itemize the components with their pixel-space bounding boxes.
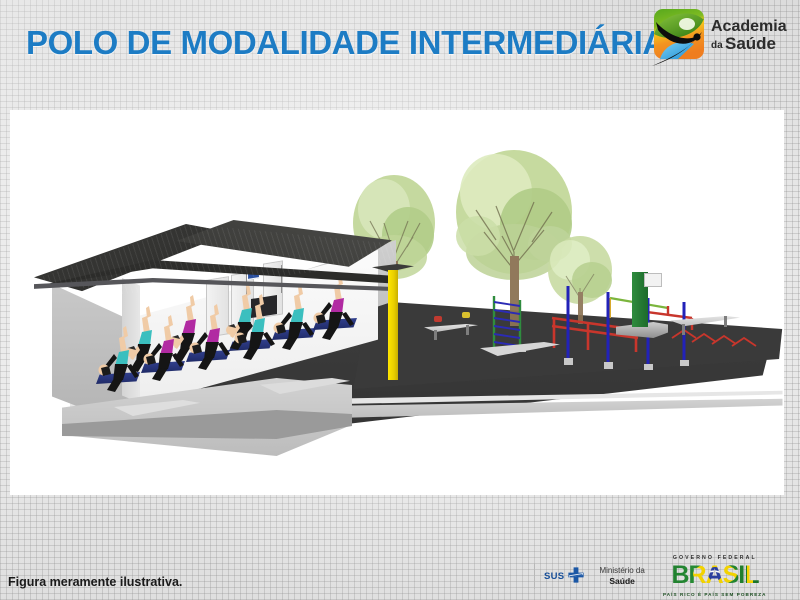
yellow-column [388,270,398,380]
participant [138,311,188,383]
svg-text:da: da [711,40,723,51]
logo-line1: Academia [711,18,787,35]
ministry-wordmark: Ministério da Saúde [599,566,644,587]
brasil-logo: GOVERNO FEDERAL BRASIL [661,555,769,597]
bench-leg [466,325,469,335]
bench-leg [682,324,685,335]
sus-label: SUS [544,571,564,582]
sus-logo: SUS [544,566,586,586]
participant [184,300,234,372]
page-title: POLO DE MODALIDADE INTERMEDIÁRIA [26,24,666,62]
brasil-wordmark: BRASIL [661,561,769,591]
brasil-slogan: PAÍS RICO É PAÍS SEM POBREZA [661,592,769,597]
polo-intermediario-3d-render [10,110,784,495]
ministry-line2: Saúde [609,576,635,586]
presentation-slide: POLO DE MODALIDADE INTERMEDIÁRIA [0,0,800,600]
cross-icon [566,566,586,586]
academia-da-saude-logo: Academia da Saúde [648,4,796,66]
ministry-line1: Ministério da [599,566,644,576]
svg-text:Saúde: Saúde [725,34,776,53]
footer-divider [534,563,535,589]
illustration-panel [10,110,784,495]
bench-accent [462,312,470,318]
info-sign [644,273,662,287]
bench-leg [724,316,727,327]
participant [93,322,143,394]
footer-logo-strip: SUS Ministério da Saúde GOVERNO FEDERAL [534,558,792,594]
figure-caption: Figura meramente ilustrativa. [8,575,182,589]
bench-leg [434,330,437,340]
bench-accent [434,316,442,322]
